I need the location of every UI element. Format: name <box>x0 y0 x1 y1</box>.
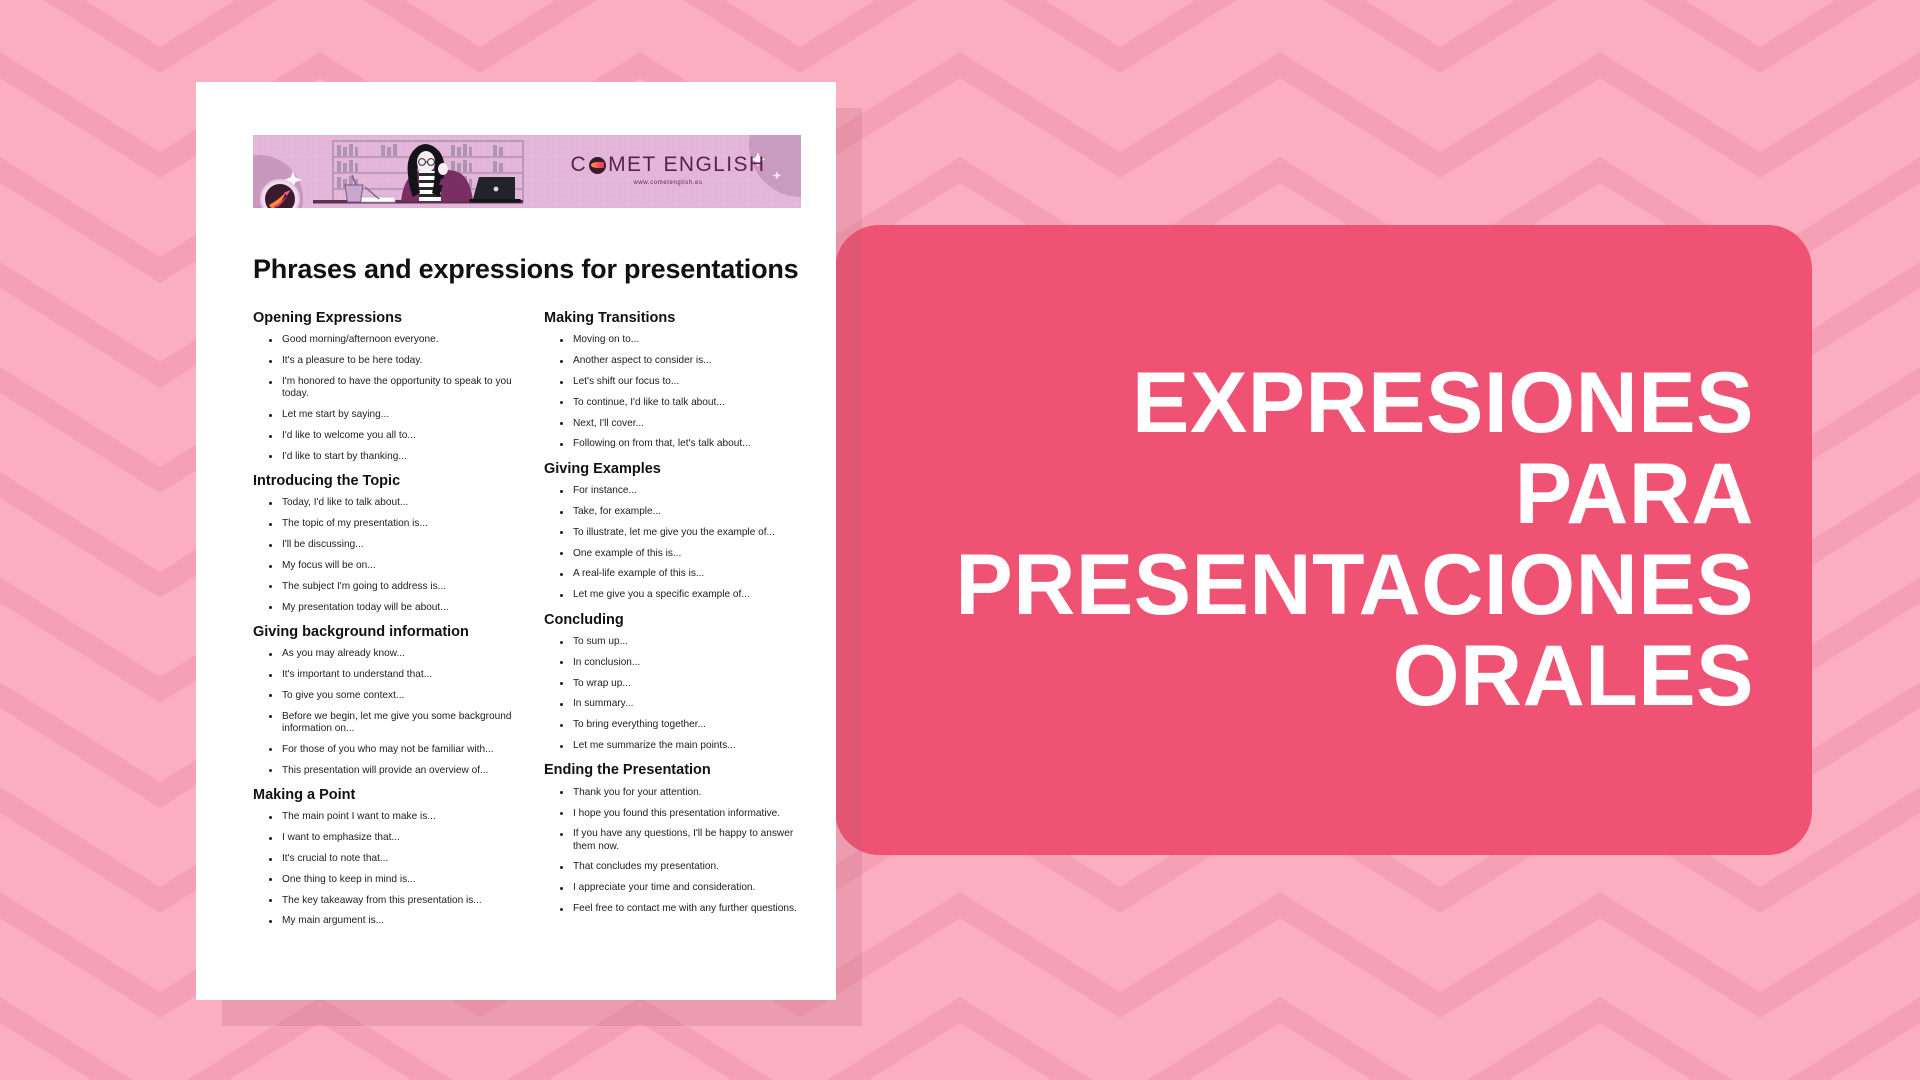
list-item: To illustrate, let me give you the examp… <box>560 527 813 539</box>
brand-name-part-2: MET ENGLISH <box>608 153 765 177</box>
list-item: The subject I'm going to address is... <box>269 581 522 593</box>
list-item: The topic of my presentation is... <box>269 518 522 530</box>
list-item: Let's shift our focus to... <box>560 376 813 388</box>
list-item: Following on from that, let's talk about… <box>560 438 813 450</box>
list-item: One example of this is... <box>560 548 813 560</box>
section-making-transitions: Making Transitions Moving on to... Anoth… <box>544 310 813 451</box>
list-item: To give you some context... <box>269 690 522 702</box>
comet-logo-icon <box>265 184 295 208</box>
list-item: In conclusion... <box>560 657 813 669</box>
list-item: It's important to understand that... <box>269 669 522 681</box>
list-item: As you may already know... <box>269 648 522 660</box>
section-making-a-point: Making a Point The main point I want to … <box>253 787 522 928</box>
list-item: If you have any questions, I'll be happy… <box>560 828 813 853</box>
column-right: Making Transitions Moving on to... Anoth… <box>544 310 813 938</box>
list-item: I'd like to welcome you all to... <box>269 430 522 442</box>
list-item: Next, I'll cover... <box>560 418 813 430</box>
list-item: To wrap up... <box>560 678 813 690</box>
brand-name-part-1: C <box>571 153 588 177</box>
list-item: Let me start by saying... <box>269 409 522 421</box>
list-item: It's crucial to note that... <box>269 853 522 865</box>
list-item: Let me summarize the main points... <box>560 740 813 752</box>
list-item: I hope you found this presentation infor… <box>560 808 813 820</box>
list-item: Thank you for your attention. <box>560 787 813 799</box>
list-item: That concludes my presentation. <box>560 861 813 873</box>
spanish-title-panel: EXPRESIONES PARA PRESENTACIONES ORALES <box>835 225 1812 855</box>
list-item: To sum up... <box>560 636 813 648</box>
section-opening-expressions: Opening Expressions Good morning/afterno… <box>253 310 522 463</box>
phrase-list: The main point I want to make is... I wa… <box>253 811 522 927</box>
list-item: Take, for example... <box>560 506 813 518</box>
list-item: It's a pleasure to be here today. <box>269 355 522 367</box>
section-ending-the-presentation: Ending the Presentation Thank you for yo… <box>544 762 813 915</box>
phrase-list: Moving on to... Another aspect to consid… <box>544 334 813 450</box>
section-concluding: Concluding To sum up... In conclusion...… <box>544 612 813 753</box>
phrase-list: For instance... Take, for example... To … <box>544 485 813 601</box>
phrase-list: Today, I'd like to talk about... The top… <box>253 497 522 613</box>
comet-logo-badge <box>260 179 300 208</box>
panel-heading-line-1: EXPRESIONES <box>955 358 1754 449</box>
list-item: Feel free to contact me with any further… <box>560 903 813 915</box>
list-item: To continue, I'd like to talk about... <box>560 397 813 409</box>
comet-icon <box>589 157 606 174</box>
brand-website: www.cometenglish.es <box>553 180 783 186</box>
brand-banner: C MET ENGLISH www.cometenglish.es <box>253 135 801 208</box>
panel-heading-line-3: PRESENTACIONES <box>955 540 1754 631</box>
list-item: Moving on to... <box>560 334 813 346</box>
list-item: Before we begin, let me give you some ba… <box>269 711 522 736</box>
section-heading: Giving Examples <box>544 461 813 478</box>
list-item: For instance... <box>560 485 813 497</box>
section-heading: Opening Expressions <box>253 310 522 327</box>
panel-heading: EXPRESIONES PARA PRESENTACIONES ORALES <box>955 358 1754 723</box>
section-heading: Making a Point <box>253 787 522 804</box>
phrase-list: As you may already know... It's importan… <box>253 648 522 777</box>
section-introducing-the-topic: Introducing the Topic Today, I'd like to… <box>253 473 522 614</box>
list-item: I'm honored to have the opportunity to s… <box>269 376 522 401</box>
panel-heading-line-2: PARA <box>955 449 1754 540</box>
section-heading: Giving background information <box>253 624 522 641</box>
phrase-list: To sum up... In conclusion... To wrap up… <box>544 636 813 752</box>
list-item: To bring everything together... <box>560 719 813 731</box>
list-item: The main point I want to make is... <box>269 811 522 823</box>
section-giving-background-information: Giving background information As you may… <box>253 624 522 777</box>
document-page: C MET ENGLISH www.cometenglish.es <box>196 82 836 1000</box>
list-item: My main argument is... <box>269 915 522 927</box>
list-item: Good morning/afternoon everyone. <box>269 334 522 346</box>
section-heading: Ending the Presentation <box>544 762 813 779</box>
list-item: One thing to keep in mind is... <box>269 874 522 886</box>
list-item: My presentation today will be about... <box>269 602 522 614</box>
list-item: Another aspect to consider is... <box>560 355 813 367</box>
section-giving-examples: Giving Examples For instance... Take, fo… <box>544 461 813 602</box>
list-item: I want to emphasize that... <box>269 832 522 844</box>
section-heading: Making Transitions <box>544 310 813 327</box>
list-item: My focus will be on... <box>269 560 522 572</box>
section-heading: Introducing the Topic <box>253 473 522 490</box>
list-item: Today, I'd like to talk about... <box>269 497 522 509</box>
phrase-list: Thank you for your attention. I hope you… <box>544 787 813 916</box>
list-item: For those of you who may not be familiar… <box>269 744 522 756</box>
list-item: This presentation will provide an overvi… <box>269 765 522 777</box>
list-item: In summary... <box>560 698 813 710</box>
list-item: The key takeaway from this presentation … <box>269 895 522 907</box>
list-item: A real-life example of this is... <box>560 568 813 580</box>
column-left: Opening Expressions Good morning/afterno… <box>253 310 522 938</box>
list-item: I'd like to start by thanking... <box>269 451 522 463</box>
page-title: Phrases and expressions for presentation… <box>253 255 813 285</box>
list-item: I appreciate your time and consideration… <box>560 882 813 894</box>
poster-canvas: EXPRESIONES PARA PRESENTACIONES ORALES <box>0 0 1920 1080</box>
panel-heading-line-4: ORALES <box>955 631 1754 722</box>
content-columns: Opening Expressions Good morning/afterno… <box>253 310 813 938</box>
comet-glyph-icon <box>265 163 295 209</box>
phrase-list: Good morning/afternoon everyone. It's a … <box>253 334 522 463</box>
list-item: I'll be discussing... <box>269 539 522 551</box>
brand-wordmark: C MET ENGLISH www.cometenglish.es <box>553 153 783 186</box>
list-item: Let me give you a specific example of... <box>560 589 813 601</box>
section-heading: Concluding <box>544 612 813 629</box>
